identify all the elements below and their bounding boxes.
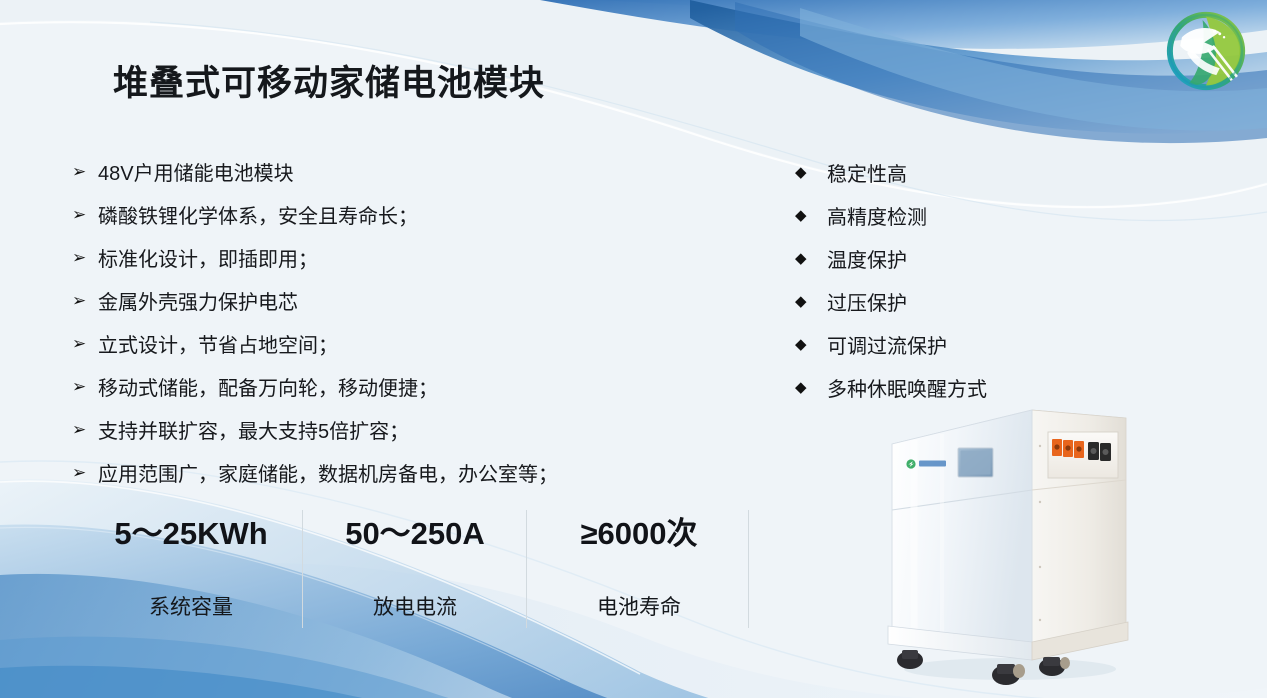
company-leaf-logo — [1163, 8, 1249, 94]
diamond-bullet-icon: ◆ — [795, 165, 821, 180]
arrow-bullet-icon: ➢ — [72, 292, 98, 309]
product-photo-battery-cabinet — [880, 392, 1142, 692]
arrow-bullet-icon: ➢ — [72, 421, 98, 438]
diamond-bullet-icon: ◆ — [795, 337, 821, 352]
list-item: ◆ 温度保护 — [795, 237, 1095, 280]
arrow-bullet-icon: ➢ — [72, 206, 98, 223]
diamond-bullet-icon: ◆ — [795, 380, 821, 395]
arrow-bullet-icon: ➢ — [72, 249, 98, 266]
list-item-label: 温度保护 — [821, 244, 907, 273]
arrow-bullet-icon: ➢ — [72, 464, 98, 481]
list-item: ➢ 标准化设计，即插即用； — [72, 236, 712, 279]
list-item-label: 可调过流保护 — [821, 330, 947, 359]
list-item-label: 标准化设计，即插即用； — [98, 243, 318, 272]
spec-item-capacity: 5～25KWh 系统容量 — [80, 508, 302, 621]
list-item: ➢ 立式设计，节省占地空间； — [72, 322, 712, 365]
list-item: ◆ 可调过流保护 — [795, 323, 1095, 366]
list-item-label: 支持并联扩容，最大支持5倍扩容； — [98, 415, 409, 444]
list-item-label: 应用范围广，家庭储能，数据机房备电，办公室等； — [98, 458, 558, 487]
diamond-bullet-icon: ◆ — [795, 251, 821, 266]
diamond-bullet-icon: ◆ — [795, 208, 821, 223]
list-item-label: 48V户用储能电池模块 — [98, 157, 294, 186]
spec-item-current: 50～250A 放电电流 — [304, 508, 526, 621]
list-item-label: 稳定性高 — [821, 158, 907, 187]
list-item-label: 高精度检测 — [821, 201, 927, 230]
list-item-label: 立式设计，节省占地空间； — [98, 329, 338, 358]
list-item-label: 移动式储能，配备万向轮，移动便捷； — [98, 372, 438, 401]
spec-divider — [302, 510, 303, 628]
list-item-label: 过压保护 — [821, 287, 907, 316]
diamond-bullet-icon: ◆ — [795, 294, 821, 309]
spec-label: 放电电流 — [304, 591, 526, 621]
arrow-bullet-icon: ➢ — [72, 163, 98, 180]
spec-divider — [526, 510, 527, 628]
list-item-label: 磷酸铁锂化学体系，安全且寿命长； — [98, 200, 418, 229]
slide-root: 堆叠式可移动家储电池模块 ➢ 48V户用储能电池模块 ➢ 磷酸铁锂化学体系，安全… — [0, 0, 1267, 698]
arrow-bullet-icon: ➢ — [72, 335, 98, 352]
list-item: ➢ 金属外壳强力保护电芯 — [72, 279, 712, 322]
spec-value: 5～25KWh — [80, 508, 302, 553]
feature-list-right: ◆ 稳定性高 ◆ 高精度检测 ◆ 温度保护 ◆ 过压保护 ◆ 可调过流保护 ◆ … — [795, 151, 1095, 409]
page-title: 堆叠式可移动家储电池模块 — [113, 55, 545, 106]
spec-value: 50～250A — [304, 508, 526, 553]
list-item: ◆ 过压保护 — [795, 280, 1095, 323]
spec-label: 电池寿命 — [528, 591, 750, 621]
arrow-bullet-icon: ➢ — [72, 378, 98, 395]
list-item-label: 金属外壳强力保护电芯 — [98, 286, 298, 315]
spec-summary-strip: 5～25KWh 系统容量 50～250A 放电电流 ≥6000次 电池寿命 — [80, 508, 750, 628]
list-item: ◆ 高精度检测 — [795, 194, 1095, 237]
list-item: ➢ 磷酸铁锂化学体系，安全且寿命长； — [72, 193, 712, 236]
feature-list-left: ➢ 48V户用储能电池模块 ➢ 磷酸铁锂化学体系，安全且寿命长； ➢ 标准化设计… — [72, 150, 712, 494]
spec-value: ≥6000次 — [528, 508, 750, 553]
list-item: ➢ 应用范围广，家庭储能，数据机房备电，办公室等； — [72, 451, 712, 494]
spec-item-cycle-life: ≥6000次 电池寿命 — [528, 508, 750, 621]
list-item: ➢ 移动式储能，配备万向轮，移动便捷； — [72, 365, 712, 408]
list-item: ➢ 48V户用储能电池模块 — [72, 150, 712, 193]
list-item: ◆ 稳定性高 — [795, 151, 1095, 194]
spec-label: 系统容量 — [80, 591, 302, 621]
list-item: ➢ 支持并联扩容，最大支持5倍扩容； — [72, 408, 712, 451]
